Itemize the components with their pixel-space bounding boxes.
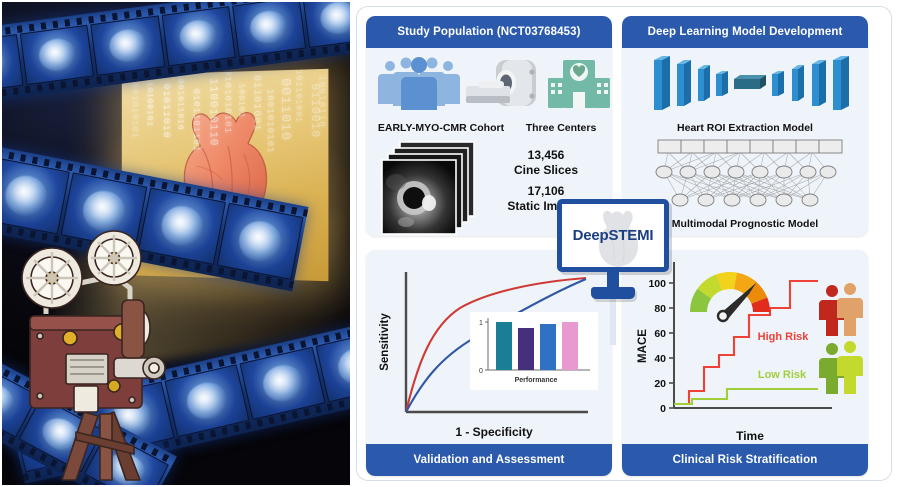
static-images-count: 17,106: [486, 184, 606, 199]
cine-slices-count: 13,456: [486, 148, 606, 163]
mace-ytick-20: 20: [654, 378, 666, 390]
mri-scanner-icon: [466, 60, 536, 106]
monitor-stem-shadow: [610, 299, 616, 345]
people-group-icon: [378, 57, 460, 110]
mri-film-frame: [302, 0, 352, 48]
graphical-abstract-panel: Study Population (NCT03768453): [352, 0, 900, 487]
mri-film-frame: [240, 347, 326, 420]
binary-code-column: 0101010101: [222, 70, 231, 134]
mace-ytick-40: 40: [654, 353, 666, 365]
mace-ytick-0: 0: [660, 403, 666, 415]
cover-illustration: 1001010101011010010101011010100101101001…: [0, 0, 352, 487]
binary-code-column: 0011010: [279, 78, 293, 141]
monitor-base: [591, 287, 635, 299]
mri-film-frame: [91, 15, 165, 75]
study-population-icon-row: [366, 52, 612, 122]
high-risk-people-icon: [819, 283, 863, 336]
low-risk-label: Low Risk: [758, 369, 807, 381]
binary-code-column: 1001011010: [175, 73, 183, 130]
panel-model-development-title: Deep Learning Model Development: [622, 16, 868, 48]
graphical-abstract-figure: 1001010101011010010101011010100101101001…: [0, 0, 900, 487]
low-risk-people-icon: [819, 341, 863, 394]
panel-validation-title: Validation and Assessment: [366, 444, 612, 476]
binary-code-column: 1001010101: [129, 76, 138, 139]
inset-y-bottom-tick: 0: [479, 368, 483, 375]
high-risk-label: High Risk: [758, 331, 810, 343]
panel-study-population-title: Study Population (NCT03768453): [366, 16, 612, 48]
hospital-icon: [548, 60, 610, 108]
performance-bar: [518, 328, 534, 370]
mri-film-frame: [216, 203, 303, 280]
performance-bar: [540, 324, 556, 370]
binary-code-column: 110010110: [206, 78, 217, 146]
mri-film-frame: [0, 34, 24, 94]
mace-ylabel: MACE: [637, 329, 649, 363]
performance-bar: [496, 322, 512, 370]
panel-risk-stratification-title: Clinical Risk Stratification: [622, 444, 868, 476]
roc-xlabel: 1 - Specificity: [455, 425, 533, 439]
risk-population-icons: [818, 282, 868, 402]
abstract-outer-card: Study Population (NCT03768453): [356, 6, 892, 481]
binary-code-column: 101101001: [293, 70, 302, 124]
risk-gauge-icon: [690, 272, 770, 321]
binary-code-column: 100101: [236, 83, 244, 118]
inset-xlabel: Performance: [515, 377, 558, 384]
binary-code-column: 01101001: [250, 75, 261, 132]
unet-architecture-icon: [622, 54, 868, 120]
mri-film-frame: [161, 6, 235, 66]
binary-code-column: 0101101101: [191, 89, 200, 153]
mri-film-frame: [20, 25, 94, 85]
mri-film-frame: [0, 157, 70, 234]
centers-label: Three Centers: [514, 122, 608, 134]
inset-y-top-tick: 1: [479, 320, 483, 327]
film-projector-illustration: [18, 236, 198, 482]
roc-ylabel: Sensitivity: [379, 313, 391, 371]
deepstemi-label: DeepSTEMI: [573, 227, 654, 244]
cine-slices-label: Cine Slices: [486, 163, 606, 178]
performance-inset-chart: 1 0 Performance: [470, 312, 598, 390]
mace-xlabel: Time: [736, 429, 764, 443]
mace-ytick-60: 60: [654, 328, 666, 340]
performance-bar: [562, 322, 578, 370]
binary-code-column: 10010110: [316, 75, 326, 128]
cine-slices-stat: 13,456 Cine Slices: [486, 148, 606, 178]
roi-model-label: Heart ROI Extraction Model: [622, 122, 868, 134]
cohort-label: EARLY-MYO-CMR Cohort: [372, 122, 510, 134]
deepstemi-monitor: DeepSTEMI: [557, 199, 669, 307]
binary-code-column: 01011010: [160, 83, 170, 138]
monitor-screen: DeepSTEMI: [557, 199, 669, 272]
mri-film-frame: [232, 0, 306, 57]
mri-image-stack-icon: [374, 138, 492, 236]
binary-code-column: 1001010101: [264, 89, 274, 154]
